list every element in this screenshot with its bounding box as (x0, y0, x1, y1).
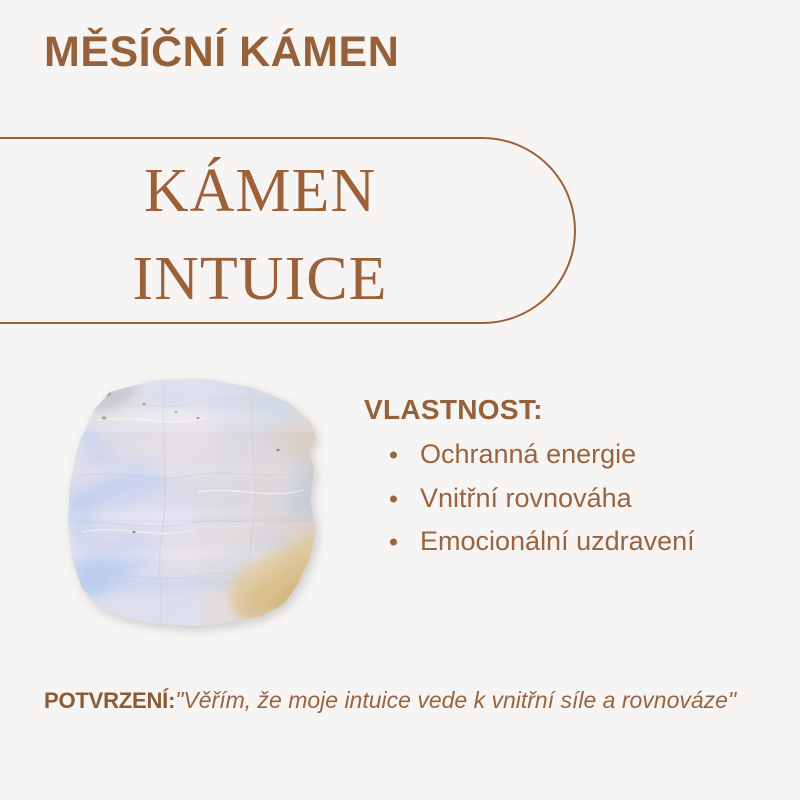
bullet-icon (390, 495, 397, 502)
poster-canvas: MĚSÍČNÍ KÁMEN KÁMEN INTUICE (0, 0, 800, 800)
moonstone-image (48, 372, 338, 644)
properties-list: Ochranná energie Vnitřní rovnováha Emoci… (364, 433, 784, 564)
badge-line-1: KÁMEN (0, 147, 520, 235)
badge-line-2: INTUICE (0, 235, 520, 323)
page-title: MĚSÍČNÍ KÁMEN (44, 30, 399, 75)
affirmation-block: POTVRZENÍ:"Věřím, že moje intuice vede k… (44, 682, 744, 719)
affirmation-label: POTVRZENÍ: (44, 688, 175, 713)
bullet-icon (390, 451, 397, 458)
moonstone-graphic (48, 372, 338, 644)
properties-heading: VLASTNOST: (364, 392, 784, 427)
list-item-label: Vnitřní rovnováha (420, 483, 632, 513)
badge-text: KÁMEN INTUICE (0, 147, 520, 323)
list-item: Ochranná energie (364, 433, 784, 477)
properties-block: VLASTNOST: Ochranná energie Vnitřní rovn… (364, 392, 784, 564)
bullet-icon (390, 539, 397, 546)
list-item-label: Emocionální uzdravení (420, 526, 695, 556)
list-item: Emocionální uzdravení (364, 520, 784, 564)
list-item: Vnitřní rovnováha (364, 477, 784, 521)
list-item-label: Ochranná energie (420, 439, 636, 469)
affirmation-quote: "Věřím, že moje intuice vede k vnitřní s… (175, 687, 736, 713)
